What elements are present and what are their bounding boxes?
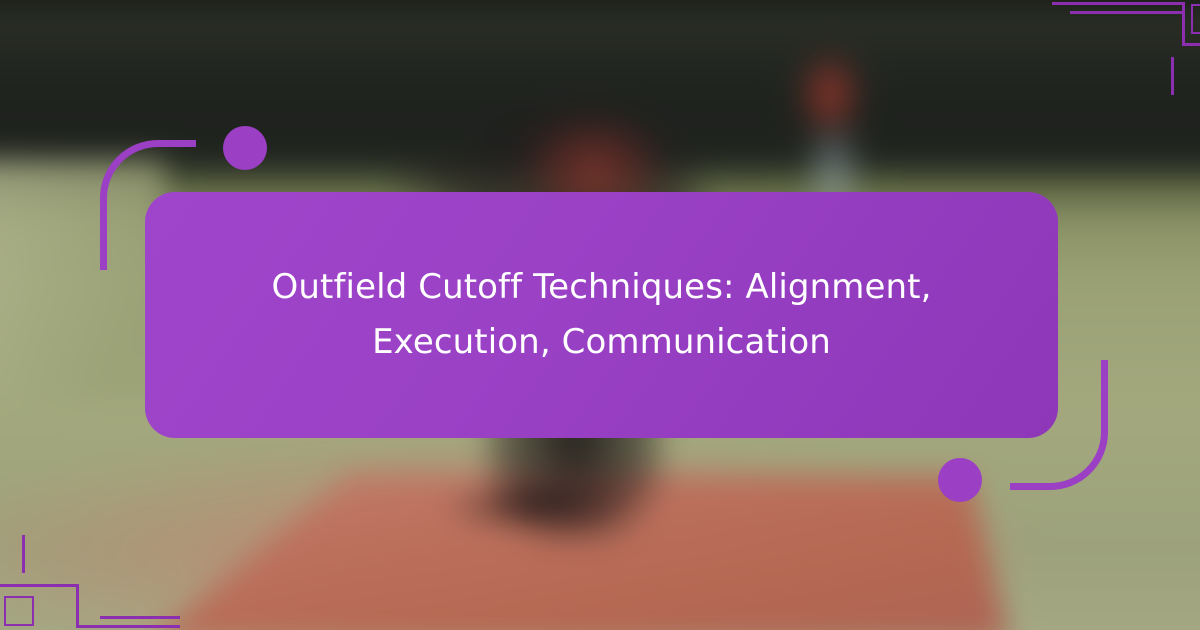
- circuit-line-horizontal: [1052, 2, 1184, 5]
- page-title: Outfield Cutoff Techniques: Alignment, E…: [203, 260, 1000, 370]
- circuit-decoration-top-right: [1030, 0, 1200, 95]
- circuit-line-horizontal: [100, 616, 180, 619]
- title-card: Outfield Cutoff Techniques: Alignment, E…: [145, 192, 1058, 438]
- background-player-shoe: [446, 485, 625, 528]
- circuit-line-horizontal: [76, 625, 180, 628]
- circuit-line-horizontal: [1070, 11, 1182, 14]
- accent-circle-bottom: [938, 458, 982, 502]
- circuit-line-vertical: [76, 584, 79, 628]
- circuit-line-vertical: [1171, 57, 1174, 95]
- circuit-line-vertical: [22, 535, 25, 573]
- accent-circle-top: [223, 126, 267, 170]
- circuit-line-horizontal: [1182, 43, 1200, 46]
- circuit-node-square: [4, 596, 34, 626]
- circuit-line-vertical: [1182, 2, 1185, 46]
- circuit-node-square: [1191, 4, 1200, 34]
- circuit-decoration-bottom-left: [0, 535, 180, 630]
- circuit-line-horizontal: [0, 584, 79, 587]
- banner-canvas: Outfield Cutoff Techniques: Alignment, E…: [0, 0, 1200, 630]
